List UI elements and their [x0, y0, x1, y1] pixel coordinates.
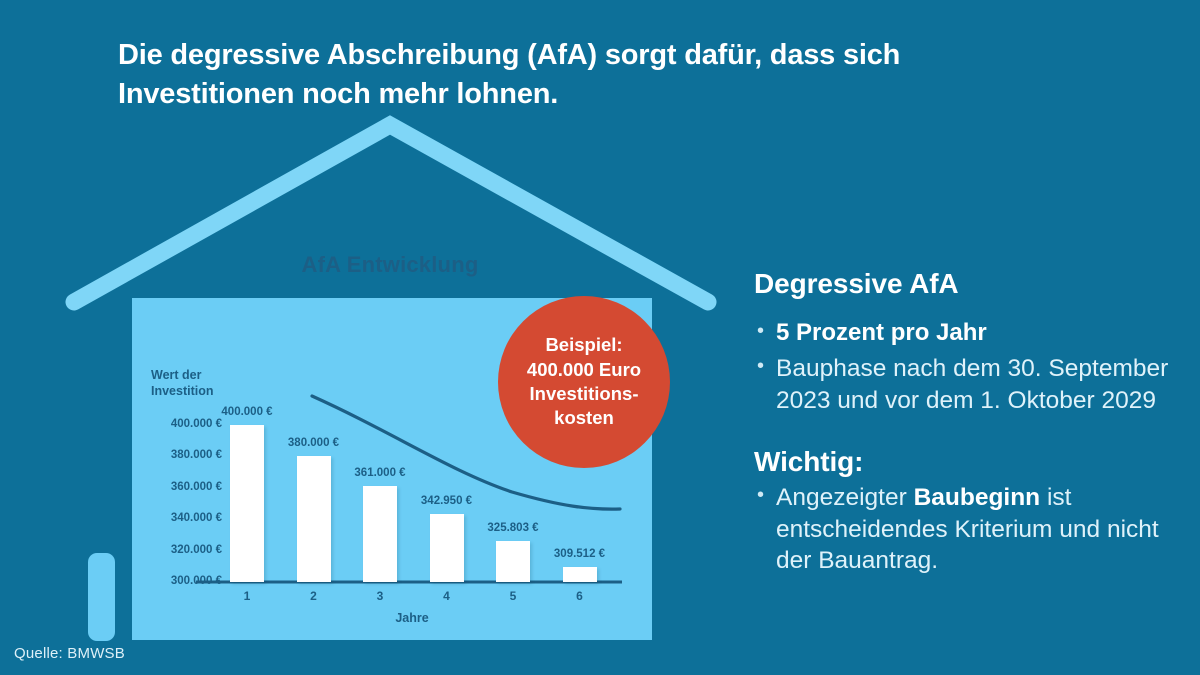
baubeginn-emphasis: Baubeginn [914, 484, 1041, 511]
list-item: • Bauphase nach dem 30. September 2023 u… [754, 353, 1174, 416]
y-axis-tick: 320.000 € [150, 544, 222, 558]
list-item: • Angezeigter Baubeginn ist entscheidend… [754, 482, 1174, 577]
page-title: Die degressive Abschreibung (AfA) sorgt … [118, 36, 1018, 113]
x-axis-tick-label: 6 [560, 589, 600, 603]
bullet-text-percent: 5 Prozent pro Jahr [776, 318, 1174, 349]
y-axis-tick: 340.000 € [150, 512, 222, 526]
y-axis-tick: 300.000 € [150, 575, 222, 589]
x-axis-tick-label: 5 [493, 589, 533, 603]
list-item: • 5 Prozent pro Jahr [754, 318, 1174, 349]
x-axis-tick-label: 3 [360, 589, 400, 603]
source-credit: Quelle: BMWSB [14, 645, 125, 662]
x-axis-tick-label: 1 [227, 589, 267, 603]
bullet-dot-icon: • [754, 353, 776, 379]
y-axis-tick-label: 300.000 € [171, 575, 222, 587]
chart-bar [363, 486, 397, 582]
bar-value-label: 342.950 € [392, 495, 502, 507]
y-axis-tick-label: 320.000 € [171, 544, 222, 556]
bar-value-label: 400.000 € [192, 406, 302, 418]
x-axis-tick-label: 2 [294, 589, 334, 603]
bar-value-label: 325.803 € [458, 522, 568, 534]
y-axis-tick-label: 380.000 € [171, 449, 222, 461]
chart-title: AfA Entwicklung [140, 252, 640, 278]
example-badge: Beispiel: 400.000 Euro Investitions- kos… [498, 296, 670, 468]
bullet-text-bauphase: Bauphase nach dem 30. September 2023 und… [776, 353, 1174, 416]
house-side-block [88, 553, 115, 641]
y-axis-tick-label: 340.000 € [171, 512, 222, 524]
bar-value-label: 309.512 € [525, 548, 635, 560]
chart-bar [297, 456, 331, 582]
panel-heading-wichtig: Wichtig: [754, 446, 1174, 478]
panel-heading-degressive-afa: Degressive AfA [754, 268, 1174, 300]
chart-bar [563, 567, 597, 582]
baubeginn-pre: Angezeigter [776, 484, 914, 511]
y-axis-tick: 360.000 € [150, 481, 222, 495]
y-axis-label: Wert der Investition [151, 368, 214, 399]
chart-bar [430, 514, 464, 582]
y-axis-tick-label: 400.000 € [171, 418, 222, 430]
bullet-text-baubeginn: Angezeigter Baubeginn ist entscheidendes… [776, 482, 1174, 577]
bar-value-label: 380.000 € [259, 437, 369, 449]
infographic-slide: Die degressive Abschreibung (AfA) sorgt … [0, 0, 1200, 675]
y-axis-tick: 380.000 € [150, 449, 222, 463]
bullet-dot-icon: • [754, 482, 776, 508]
x-axis-tick-label: 4 [427, 589, 467, 603]
y-axis-tick: 400.000 € [150, 418, 222, 432]
info-panel: Degressive AfA • 5 Prozent pro Jahr • Ba… [754, 268, 1174, 581]
chart-bar [230, 425, 264, 582]
x-axis-label: Jahre [232, 611, 592, 625]
bullet-dot-icon: • [754, 318, 776, 344]
y-axis-tick-label: 360.000 € [171, 481, 222, 493]
bar-value-label: 361.000 € [325, 467, 435, 479]
chart-bar [496, 541, 530, 582]
